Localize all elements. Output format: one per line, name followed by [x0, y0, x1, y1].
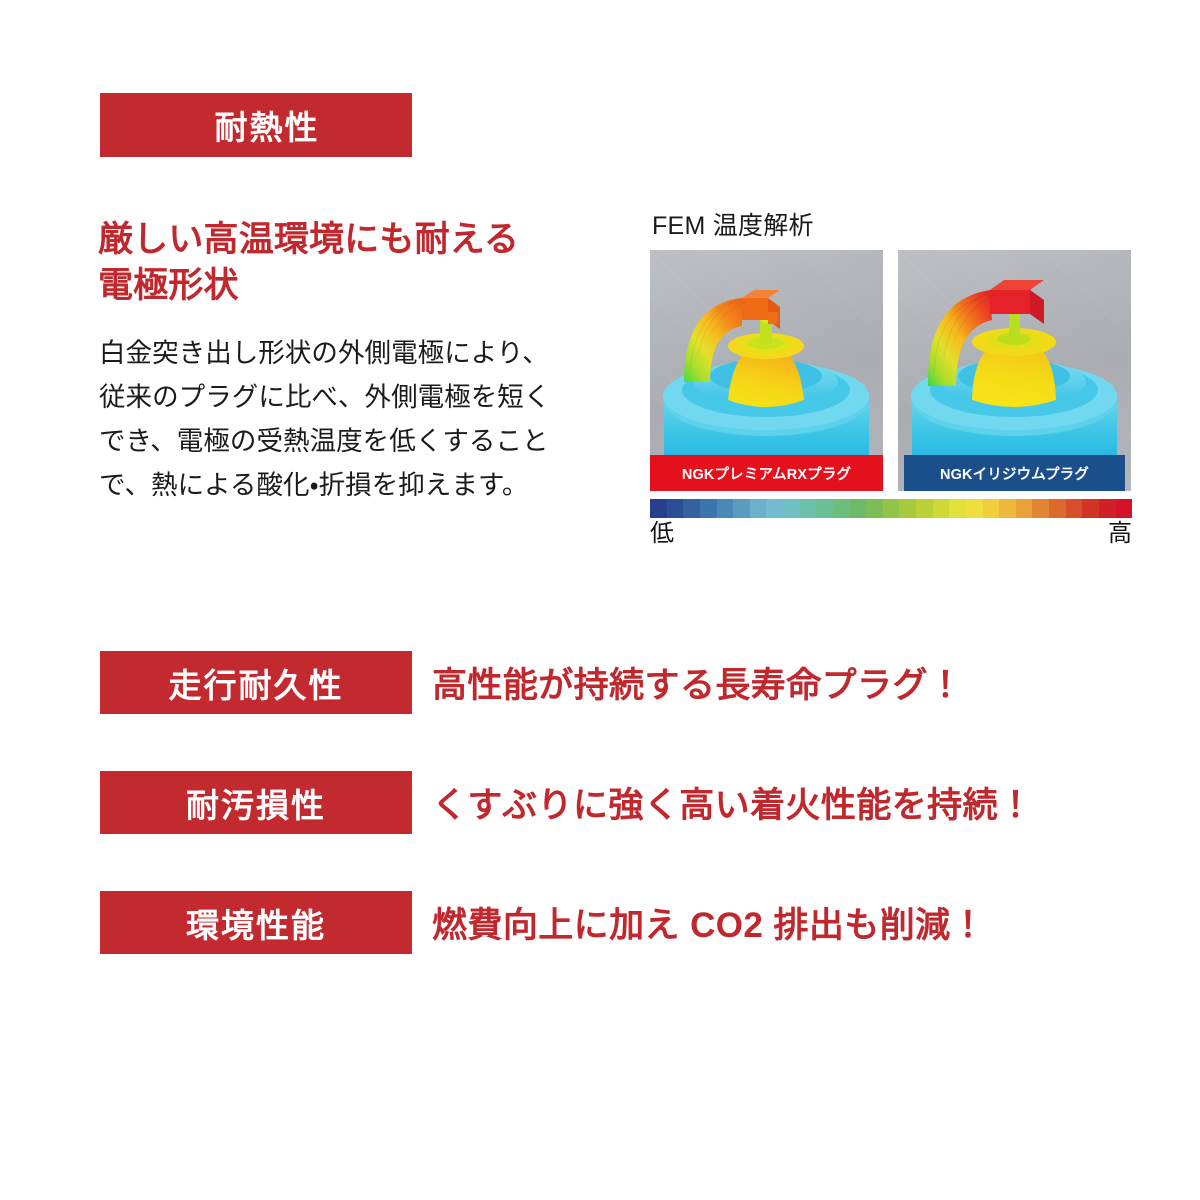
color-scale-swatch-19	[966, 499, 983, 518]
color-scale-swatch-26	[1082, 499, 1099, 518]
section-tag-heat-resistance: 耐熱性	[100, 93, 412, 157]
color-scale-labels: 低 高	[650, 520, 1132, 548]
heat-resistance-body-text: 白金突き出し形状の外側電極により、 従来のプラグに比べ、外側電極を短く でき、電…	[99, 332, 591, 508]
feature-tag-label: 走行耐久性	[169, 659, 344, 707]
body-line-2: 従来のプラグに比べ、外側電極を短く	[99, 376, 591, 420]
color-scale-swatch-25	[1066, 499, 1083, 518]
color-scale-swatch-0	[650, 499, 667, 518]
color-scale-swatch-1	[667, 499, 684, 518]
fem-thermal-analysis-figure: FEM 温度解析	[650, 214, 1132, 548]
fem-panel-caption-iridium: NGKイリジウムプラグ	[904, 455, 1125, 491]
fem-figure-title: FEM 温度解析	[652, 214, 1132, 239]
fem-panel-iridium: NGKイリジウムプラグ	[898, 250, 1131, 491]
color-scale-swatch-2	[683, 499, 700, 518]
color-scale-swatch-5	[733, 499, 750, 518]
color-scale-swatch-11	[833, 499, 850, 518]
caption-label: NGKイリジウムプラグ	[940, 463, 1089, 484]
feature-row: 耐汚損性 くすぶりに強く高い着火性能を持続！	[100, 771, 1033, 834]
color-scale-swatch-18	[949, 499, 966, 518]
fem-panel-group: NGKプレミアムRXプラグ	[650, 250, 1132, 491]
feature-tag-environmental-performance: 環境性能	[100, 891, 412, 954]
feature-description: 燃費向上に加え CO2 排出も削減！	[432, 897, 986, 948]
section-tag-label: 耐熱性	[215, 101, 320, 149]
headline-line-1: 厳しい高温環境にも耐える	[98, 217, 578, 263]
color-scale-swatch-24	[1049, 499, 1066, 518]
body-line-1: 白金突き出し形状の外側電極により、	[99, 332, 591, 376]
color-scale-swatch-17	[933, 499, 950, 518]
color-scale-swatch-8	[783, 499, 800, 518]
scale-low-label: 低	[650, 520, 674, 548]
headline-line-2: 電極形状	[98, 263, 578, 309]
color-scale-swatch-21	[999, 499, 1016, 518]
body-line-3: でき、電極の受熱温度を低くすること	[99, 420, 591, 464]
feature-description: 高性能が持続する長寿命プラグ！	[432, 657, 963, 708]
feature-tag-label: 環境性能	[186, 899, 326, 947]
color-scale-swatch-22	[1016, 499, 1033, 518]
color-scale-swatch-4	[717, 499, 734, 518]
color-scale-swatch-28	[1116, 499, 1133, 518]
color-scale-swatch-9	[800, 499, 817, 518]
feature-row: 走行耐久性 高性能が持続する長寿命プラグ！	[100, 651, 963, 714]
scale-high-label: 高	[1108, 520, 1132, 548]
color-scale-swatch-23	[1032, 499, 1049, 518]
feature-row: 環境性能 燃費向上に加え CO2 排出も削減！	[100, 891, 986, 954]
heat-resistance-section: 耐熱性 厳しい高温環境にも耐える 電極形状 白金突き出し形状の外側電極により、 …	[0, 0, 1200, 600]
color-scale-swatch-15	[899, 499, 916, 518]
color-scale-swatch-3	[700, 499, 717, 518]
feature-tag-fouling-resistance: 耐汚損性	[100, 771, 412, 834]
body-line-4: で、熱による酸化・折損を抑えます。	[99, 464, 591, 508]
color-scale-swatch-27	[1099, 499, 1116, 518]
color-scale-swatch-20	[983, 499, 1000, 518]
color-scale-swatch-13	[866, 499, 883, 518]
color-scale-bar	[650, 499, 1132, 518]
color-scale-swatch-16	[916, 499, 933, 518]
fem-panel-caption-premium-rx: NGKプレミアムRXプラグ	[650, 455, 883, 491]
color-scale-swatch-7	[766, 499, 783, 518]
feature-tag-label: 耐汚損性	[186, 779, 326, 827]
heat-resistance-headline: 厳しい高温環境にも耐える 電極形状	[98, 217, 578, 308]
fem-panel-premium-rx: NGKプレミアムRXプラグ	[650, 250, 883, 491]
color-scale-swatch-6	[750, 499, 767, 518]
caption-label: NGKプレミアムRXプラグ	[682, 463, 851, 484]
feature-description: くすぶりに強く高い着火性能を持続！	[432, 777, 1033, 828]
color-scale-swatch-12	[850, 499, 867, 518]
feature-tag-driving-durability: 走行耐久性	[100, 651, 412, 714]
fem-color-scale: 低 高	[650, 499, 1132, 548]
color-scale-swatch-10	[816, 499, 833, 518]
color-scale-swatch-14	[883, 499, 900, 518]
